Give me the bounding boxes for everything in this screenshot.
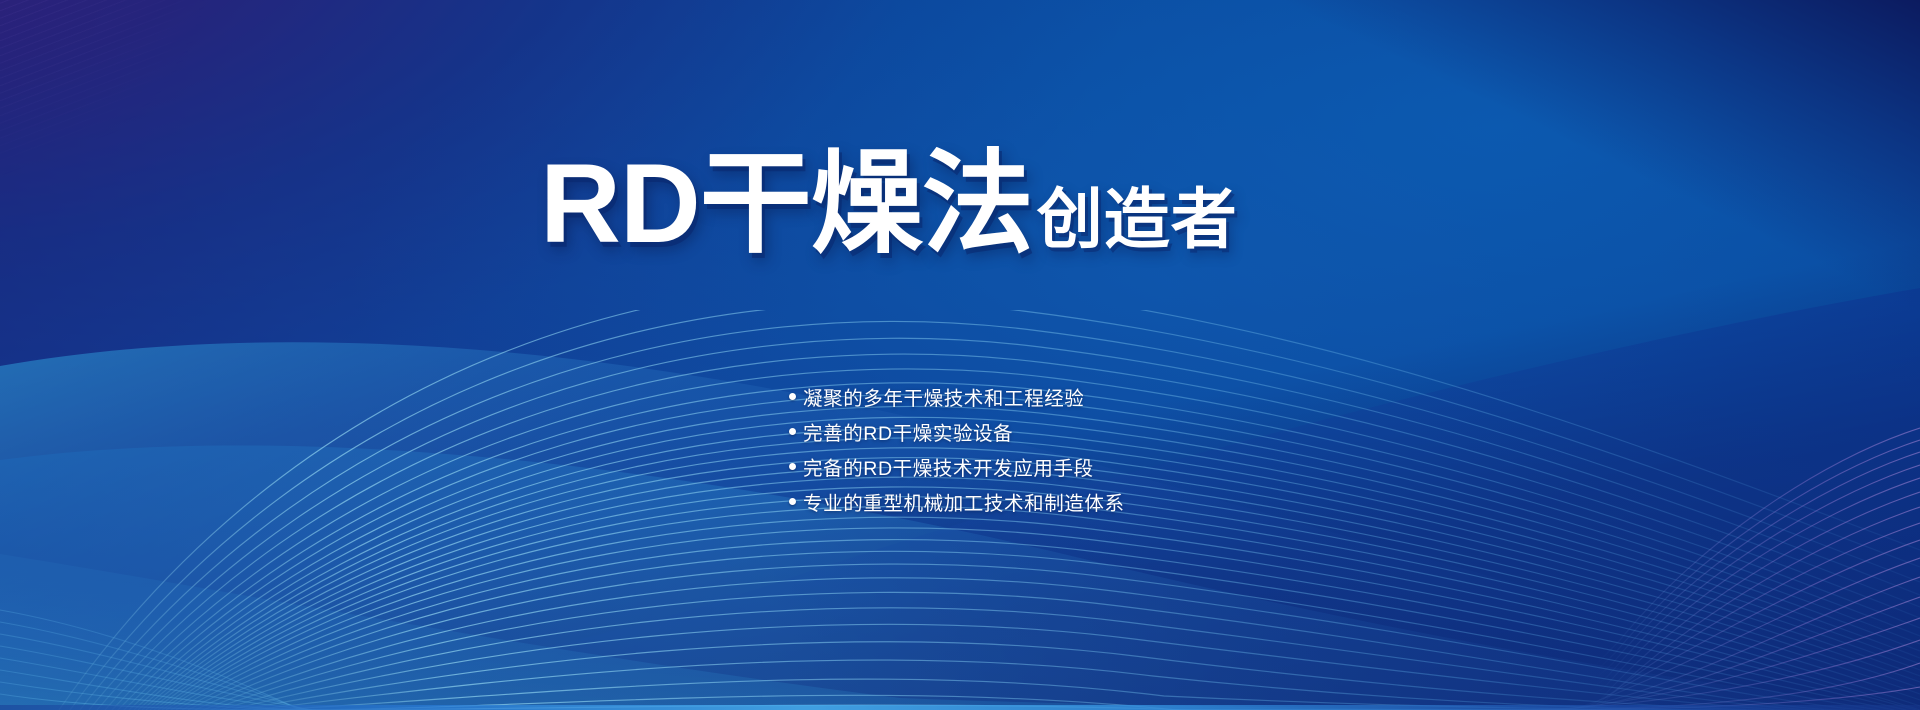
bullet-dot-icon <box>789 498 796 505</box>
feature-bullet-list: 凝聚的多年干燥技术和工程经验 完善的RD干燥实验设备 完备的RD干燥技术开发应用… <box>789 379 1125 519</box>
feature-item-label: 完善的RD干燥实验设备 <box>803 417 1013 446</box>
headline-main-text: RD干燥法 <box>540 148 1033 260</box>
bullet-dot-icon <box>789 463 796 470</box>
bullet-dot-icon <box>789 393 796 400</box>
feature-list-item: 专业的重型机械加工技术和制造体系 <box>789 484 1125 519</box>
feature-item-label: 凝聚的多年干燥技术和工程经验 <box>803 382 1084 411</box>
headline-sub-text: 创造者 <box>1037 186 1238 252</box>
banner-content: RD干燥法 创造者 凝聚的多年干燥技术和工程经验 完善的RD干燥实验设备 完备的… <box>0 0 1920 710</box>
bullet-dot-icon <box>789 428 796 435</box>
feature-list-item: 完善的RD干燥实验设备 <box>789 414 1125 449</box>
promo-banner: RD干燥法 创造者 凝聚的多年干燥技术和工程经验 完善的RD干燥实验设备 完备的… <box>0 0 1920 710</box>
feature-item-label: 专业的重型机械加工技术和制造体系 <box>803 487 1125 516</box>
feature-list-item: 完备的RD干燥技术开发应用手段 <box>789 449 1125 484</box>
banner-headline: RD干燥法 创造者 <box>540 148 1238 260</box>
feature-item-label: 完备的RD干燥技术开发应用手段 <box>803 452 1094 481</box>
feature-list-item: 凝聚的多年干燥技术和工程经验 <box>789 379 1125 414</box>
